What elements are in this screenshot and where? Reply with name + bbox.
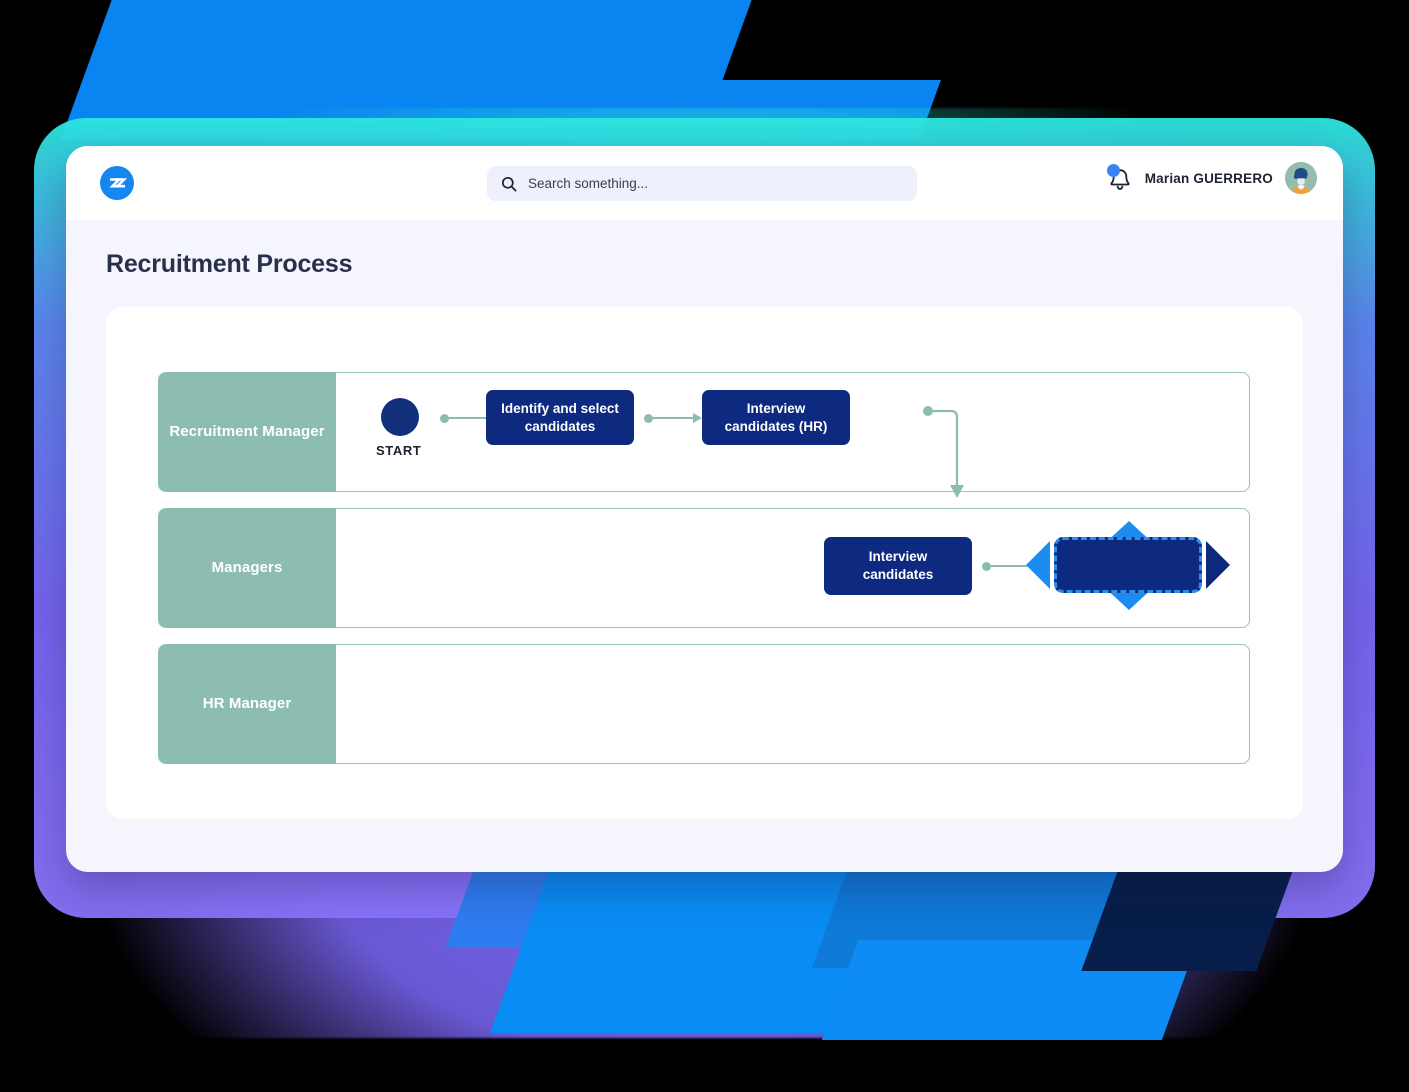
resize-handle-right-icon[interactable] — [1206, 541, 1230, 589]
node-identify-and-select-candidates[interactable]: Identify and select candidates — [486, 390, 634, 445]
node-interview-candidates-hr[interactable]: Interview candidates (HR) — [702, 390, 850, 445]
lane-body-recruitment-manager[interactable]: START Identify and select candidates — [336, 372, 1250, 492]
connector-line — [991, 565, 1031, 567]
selected-node-group[interactable] — [1026, 523, 1230, 608]
user-name-label: Marian GUERRERO — [1145, 171, 1273, 186]
start-node-label: START — [376, 443, 421, 458]
node-selected-empty[interactable] — [1054, 537, 1202, 593]
swimlane-hr-manager[interactable]: HR Manager — [158, 644, 1250, 764]
page-title: Recruitment Process — [106, 250, 1303, 279]
zz-logo-icon[interactable] — [100, 166, 134, 200]
notification-badge-dot — [1107, 164, 1120, 177]
connector-arrowhead — [693, 413, 702, 423]
lane-label-managers: Managers — [158, 508, 336, 628]
user-area: Marian GUERRERO — [1107, 162, 1317, 194]
search-input[interactable] — [528, 176, 903, 191]
connector-identify-to-interview-hr — [644, 412, 702, 424]
top-bar: Marian GUERRERO — [66, 146, 1343, 220]
page-content: Recruitment Process Recruitment Manager … — [66, 220, 1343, 819]
node-interview-candidates[interactable]: Interview candidates — [824, 537, 972, 595]
connector-source-dot — [982, 562, 991, 571]
start-node[interactable] — [381, 398, 419, 436]
decor-shape-bottom-navy — [1081, 868, 1293, 971]
lane-body-hr-manager[interactable] — [336, 644, 1250, 764]
lane-label-recruitment-manager: Recruitment Manager — [158, 372, 336, 492]
search-bar[interactable] — [487, 166, 917, 201]
search-icon — [501, 176, 517, 192]
avatar[interactable] — [1285, 162, 1317, 194]
swimlane-list: Recruitment Manager START Identify and s… — [158, 372, 1250, 780]
connector-source-dot — [644, 414, 653, 423]
notification-button[interactable] — [1107, 164, 1133, 192]
connector-line — [653, 417, 693, 419]
swimlane-recruitment-manager[interactable]: Recruitment Manager START Identify and s… — [158, 372, 1250, 492]
connector-source-dot — [440, 414, 449, 423]
avatar-person-icon — [1285, 162, 1317, 194]
screenshot-stage: Marian GUERRERO Recruitment Process — [0, 0, 1409, 1092]
lane-label-hr-manager: HR Manager — [158, 644, 336, 764]
diagram-canvas[interactable]: Recruitment Manager START Identify and s… — [106, 307, 1303, 819]
swimlane-managers[interactable]: Managers Interview candidates — [158, 508, 1250, 628]
lane-body-managers[interactable]: Interview candidates — [336, 508, 1250, 628]
resize-handle-left-icon[interactable] — [1026, 541, 1050, 589]
app-window: Marian GUERRERO Recruitment Process — [66, 146, 1343, 872]
